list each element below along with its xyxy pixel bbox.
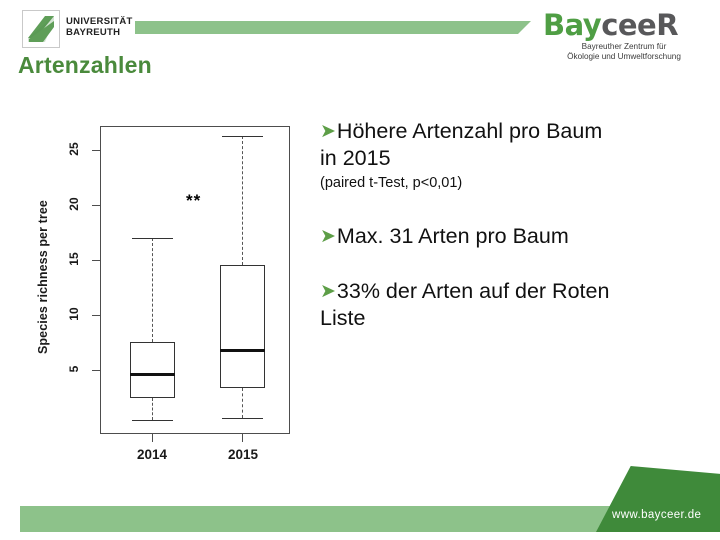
y-tick-mark-15 [92,260,100,261]
page-title: Artenzahlen [18,52,152,79]
bullet-item-1: ➤Höhere Artenzahl pro Baum in 2015 (pair… [320,118,718,193]
box-2015 [220,265,265,388]
bullet-3-line-2: Liste [320,305,718,332]
bullet-2-text-1: Max. 31 Arten pro Baum [337,224,569,248]
bayceer-logo: BayceeR Bayreuther Zentrum für Ökologie … [543,10,713,60]
header-green-bar [135,21,531,34]
bullet-3-line-1: ➤33% der Arten auf der Roten [320,278,718,305]
bayceer-wordmark: BayceeR [543,10,713,40]
arrow-bullet-icon: ➤ [320,226,336,247]
x-tick-label-2014: 2014 [122,447,182,462]
y-tick-mark-20 [92,205,100,206]
arrow-bullet-icon: ➤ [320,121,336,142]
bullet-spacer-2 [320,252,718,278]
x-tick-label-2015: 2015 [213,447,273,462]
median-line-2015 [220,349,265,352]
bullet-list: ➤Höhere Artenzahl pro Baum in 2015 (pair… [320,118,718,334]
whisker-cap-lower-2014 [132,420,173,421]
bullet-1-line-1: ➤Höhere Artenzahl pro Baum [320,118,718,145]
y-tick-label-20: 20 [67,192,81,216]
arrow-bullet-icon: ➤ [320,281,336,302]
whisker-lower-2014 [152,398,153,420]
y-tick-label-25: 25 [67,137,81,161]
y-tick-label-10: 10 [67,302,81,326]
bullet-spacer-1 [320,195,718,223]
whisker-upper-2014 [152,238,153,342]
y-tick-label-15: 15 [67,247,81,271]
bullet-item-2: ➤Max. 31 Arten pro Baum [320,223,718,250]
whisker-lower-2015 [242,388,243,418]
box-2014 [130,342,175,398]
x-tick-mark-2014 [152,434,153,442]
y-tick-mark-5 [92,370,100,371]
x-tick-mark-2015 [242,434,243,442]
boxplot-chart: Species richness per tree 25 20 15 10 5 … [20,110,310,480]
bullet-1-note: (paired t-Test, p<0,01) [320,173,718,193]
bullet-3-text-1: 33% der Arten auf der Roten [337,279,610,303]
whisker-cap-upper-2015 [222,136,263,137]
significance-annotation: ** [186,195,201,207]
whisker-cap-upper-2014 [132,238,173,239]
footer-website-url: www.bayceer.de [612,509,701,521]
y-tick-label-5: 5 [67,357,81,381]
whisker-upper-2015 [242,136,243,265]
footer-triangle-shape [596,466,720,532]
bayceer-wordmark-bay: Bay [543,8,601,42]
university-logo-text: UNIVERSITÄT BAYREUTH [66,17,133,38]
y-tick-mark-25 [92,150,100,151]
y-tick-mark-10 [92,315,100,316]
whisker-cap-lower-2015 [222,418,263,419]
bullet-1-line-2: in 2015 [320,145,718,172]
bullet-1-text-1: Höhere Artenzahl pro Baum [337,119,602,143]
bullet-item-3: ➤33% der Arten auf der Roten Liste [320,278,718,332]
bayceer-subtitle: Bayreuther Zentrum für Ökologie und Umwe… [543,42,705,62]
university-bayreuth-logo-icon [22,10,60,48]
chart-y-axis-label: Species richness per tree [36,192,50,362]
bullet-2-line-1: ➤Max. 31 Arten pro Baum [320,223,718,250]
slide-canvas: UNIVERSITÄT BAYREUTH BayceeR Bayreuther … [0,0,720,540]
bayceer-wordmark-ceer: ceeR [601,8,678,42]
median-line-2014 [130,373,175,376]
